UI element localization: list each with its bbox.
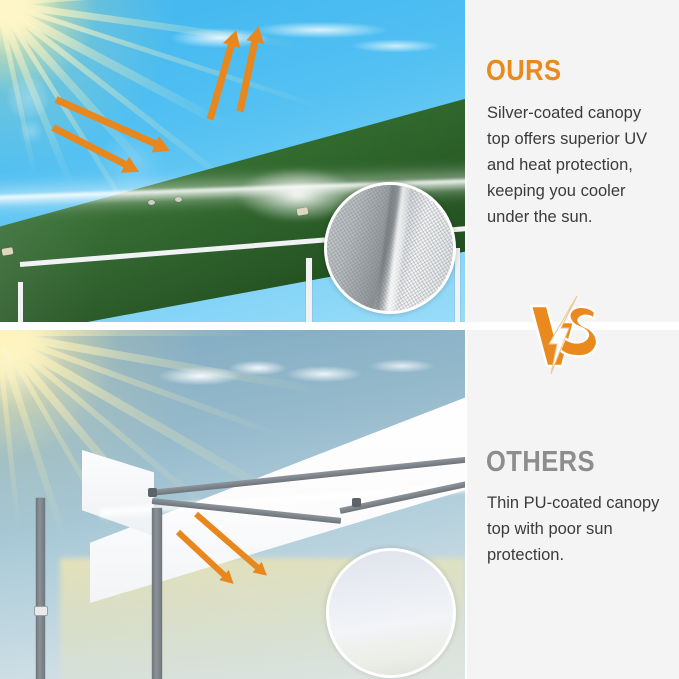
vs-badge <box>527 296 603 374</box>
ours-photo-panel <box>0 0 465 322</box>
pu-coating-detail-circle <box>326 548 456 678</box>
canopy-frame-leg <box>455 248 460 322</box>
vs-badge-icon <box>527 296 603 374</box>
canopy-grommet <box>175 197 182 202</box>
leg-height-clip <box>34 606 48 616</box>
sun-ray <box>0 330 250 336</box>
canopy-frame-leg <box>306 258 312 322</box>
ours-body-copy: Silver-coated canopy top offers superior… <box>487 100 663 230</box>
canopy-frame-leg <box>18 282 23 322</box>
others-photo-panel <box>0 330 465 679</box>
canopy-frame-leg <box>152 508 162 679</box>
cloud-wisps <box>160 12 460 70</box>
comparison-graphic: OURS Silver-coated canopy top offers sup… <box>0 0 679 679</box>
ours-heading: OURS <box>486 55 562 88</box>
others-body-copy: Thin PU-coated canopy top with poor sun … <box>487 490 667 568</box>
canopy-frame-joint <box>352 498 361 507</box>
silver-coating-detail-circle <box>324 182 456 314</box>
pu-fabric-texture <box>329 551 453 675</box>
canopy-frame-joint <box>148 488 157 497</box>
canopy-frame-leg <box>36 498 45 679</box>
cloud-wisps <box>110 352 450 404</box>
vertical-divider <box>465 0 467 679</box>
canopy-grommet <box>148 200 155 205</box>
others-heading: OTHERS <box>486 446 595 479</box>
